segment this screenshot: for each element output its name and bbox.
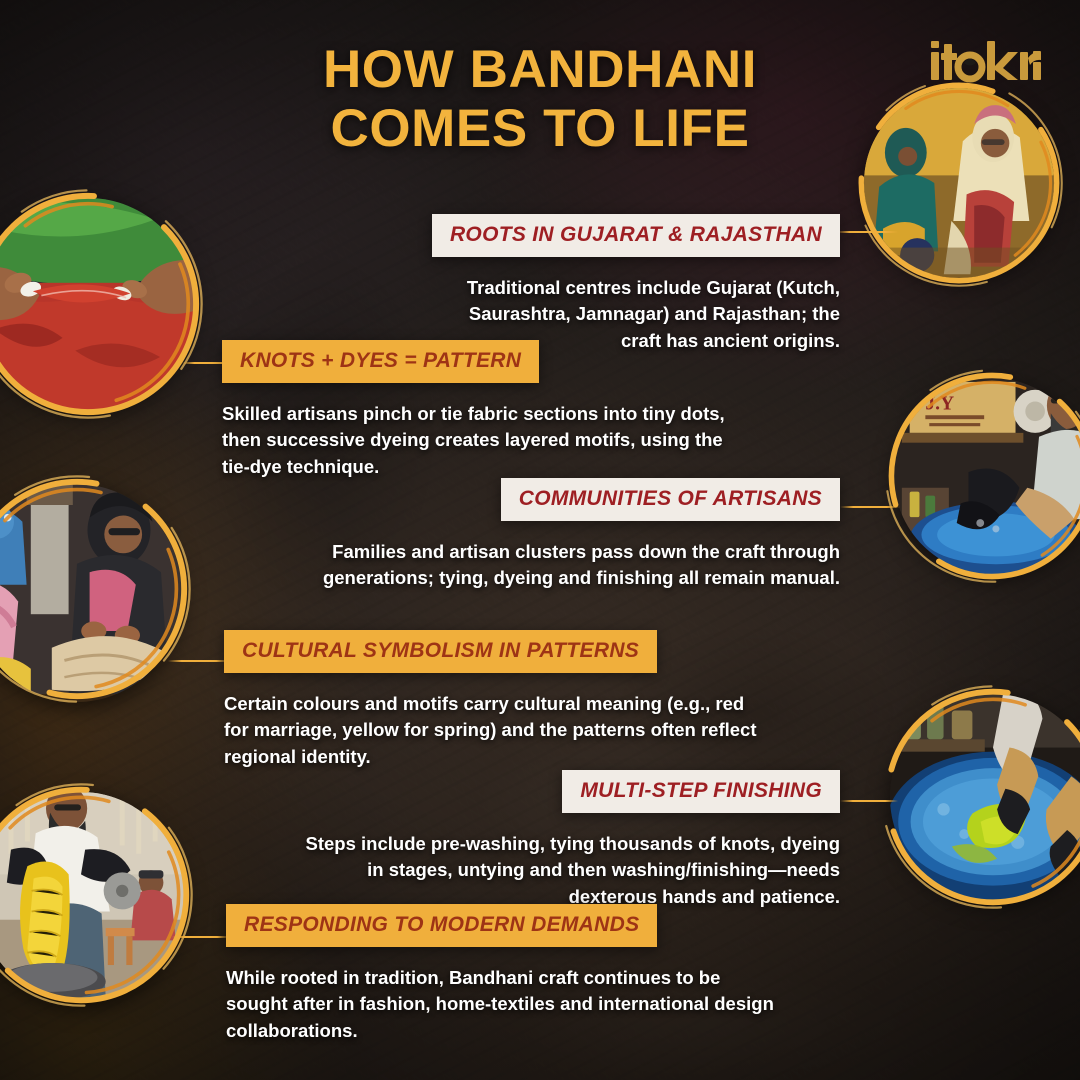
connector-line-1 [836, 231, 898, 233]
section-6-heading: RESPONDING TO MODERN DEMANDS [226, 904, 657, 947]
section-4-badge-wrap: CULTURAL SYMBOLISM IN PATTERNS [224, 630, 764, 673]
photo-blue-dye-bath [890, 694, 1080, 900]
section-3-body: Families and artisan clusters pass down … [240, 539, 840, 592]
section-5-heading: MULTI-STEP FINISHING [562, 770, 840, 813]
photo-image [890, 694, 1080, 900]
svg-text:J.Y: J.Y [925, 393, 954, 414]
connector-line-6 [172, 936, 230, 938]
page-title-line-2: COMES TO LIFE [0, 99, 1080, 158]
photo-disc [0, 484, 182, 702]
section-1-badge-wrap: ROOTS IN GUJARAT & RAJASTHAN [430, 214, 840, 257]
photo-image [0, 484, 182, 694]
connector-line-4 [168, 660, 230, 662]
section-3-badge-wrap: COMMUNITIES OF ARTISANS [240, 478, 840, 521]
photo-hands-tying-red-cloth [0, 198, 194, 410]
section-2-badge-wrap: KNOTS + DYES = PATTERN [222, 340, 742, 383]
connector-line-3 [840, 506, 900, 508]
photo-disc [0, 198, 194, 410]
itokri-logo[interactable] [928, 36, 1044, 88]
section-4-heading: CULTURAL SYMBOLISM IN PATTERNS [224, 630, 657, 673]
section-5-badge-wrap: MULTI-STEP FINISHING [300, 770, 840, 813]
photo-disc [890, 694, 1080, 900]
section-cultural-symbolism-in-patterns: CULTURAL SYMBOLISM IN PATTERNS Certain c… [224, 630, 764, 770]
section-responding-to-modern-demands: RESPONDING TO MODERN DEMANDS While roote… [226, 904, 778, 1044]
itokri-logo-icon [928, 36, 1044, 88]
section-multi-step-finishing: MULTI-STEP FINISHING Steps include pre-w… [300, 770, 840, 910]
photo-dyer-blue-vat: J.Y [894, 378, 1080, 574]
photo-dyer-yellow-fabric [0, 792, 184, 1002]
section-1-heading: ROOTS IN GUJARAT & RAJASTHAN [432, 214, 840, 257]
section-knots-dyes-pattern: KNOTS + DYES = PATTERN Skilled artisans … [222, 340, 742, 480]
photo-image: J.Y [894, 378, 1080, 574]
section-4-body: Certain colours and motifs carry cultura… [224, 691, 764, 770]
section-roots-in-gujarat-rajasthan: ROOTS IN GUJARAT & RAJASTHAN Traditional… [430, 214, 840, 354]
connector-line-5 [840, 800, 898, 802]
section-communities-of-artisans: COMMUNITIES OF ARTISANS Families and art… [240, 478, 840, 592]
section-6-badge-wrap: RESPONDING TO MODERN DEMANDS [226, 904, 778, 947]
photo-disc [0, 792, 184, 1002]
photo-disc: J.Y [894, 378, 1080, 574]
section-3-heading: COMMUNITIES OF ARTISANS [501, 478, 840, 521]
page-title-line-1: HOW BANDHANI [0, 40, 1080, 99]
section-6-body: While rooted in tradition, Bandhani craf… [226, 965, 778, 1044]
photo-image [0, 792, 184, 998]
photo-image [0, 198, 194, 410]
section-2-body: Skilled artisans pinch or tie fabric sec… [222, 401, 742, 480]
photo-women-knotting-fabric [0, 484, 182, 702]
section-5-body: Steps include pre-washing, tying thousan… [300, 831, 840, 910]
page-title: HOW BANDHANI COMES TO LIFE [0, 40, 1080, 159]
section-2-heading: KNOTS + DYES = PATTERN [222, 340, 539, 383]
